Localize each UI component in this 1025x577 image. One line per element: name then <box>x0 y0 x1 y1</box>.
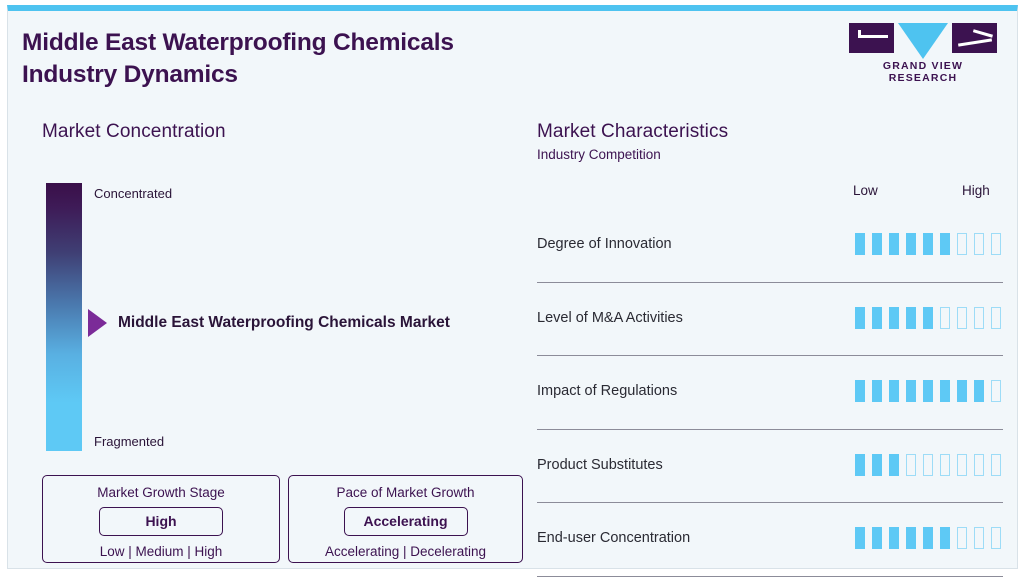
rating-segment-filled <box>889 233 899 255</box>
axis-label-high: High <box>962 183 990 198</box>
rating-segment-filled <box>872 307 882 329</box>
rating-segment-filled <box>957 380 967 402</box>
rating-segment-empty <box>974 307 984 329</box>
pace-of-market-growth-scale: Accelerating | Decelerating <box>301 544 510 559</box>
rating-segment-filled <box>889 380 899 402</box>
rating-segment-filled <box>889 454 899 476</box>
rating-segment-filled <box>855 307 865 329</box>
rating-segment-filled <box>855 454 865 476</box>
infographic-page: Middle East Waterproofing Chemicals Indu… <box>0 0 1025 576</box>
market-characteristics-heading: Market Characteristics <box>537 121 1003 143</box>
rating-segment-filled <box>940 527 950 549</box>
logo-triangle-icon <box>898 23 948 59</box>
rating-segment-filled <box>872 233 882 255</box>
characteristic-label: End-user Concentration <box>537 530 855 548</box>
characteristic-row: Degree of Innovation <box>537 209 1003 283</box>
market-growth-stage-scale: Low | Medium | High <box>55 544 267 559</box>
rating-segment-empty <box>923 454 933 476</box>
rating-segment-empty <box>906 454 916 476</box>
rating-segment-filled <box>855 527 865 549</box>
rating-segment-filled <box>855 233 865 255</box>
rating-segment-empty <box>974 233 984 255</box>
pace-of-market-growth-title: Pace of Market Growth <box>301 485 510 500</box>
characteristic-label: Level of M&A Activities <box>537 310 855 328</box>
rating-segment-empty <box>957 233 967 255</box>
characteristic-rating-bars <box>855 527 1003 551</box>
characteristic-rating-bars <box>855 380 1003 404</box>
market-position-label: Middle East Waterproofing Chemicals Mark… <box>118 314 450 332</box>
rating-segment-empty <box>974 454 984 476</box>
pace-of-market-growth-value: Accelerating <box>344 507 468 536</box>
market-growth-stage-title: Market Growth Stage <box>55 485 267 500</box>
rating-segment-empty <box>940 454 950 476</box>
rating-segment-filled <box>906 380 916 402</box>
rating-segment-empty <box>991 233 1001 255</box>
rating-segment-filled <box>906 233 916 255</box>
scale-bottom-label: Fragmented <box>94 434 164 449</box>
rating-segment-empty <box>940 307 950 329</box>
rating-segment-empty <box>991 380 1001 402</box>
characteristic-row: Impact of Regulations <box>537 356 1003 430</box>
rating-segment-filled <box>855 380 865 402</box>
logo-left-block-icon <box>849 23 894 53</box>
rating-segment-filled <box>923 233 933 255</box>
rating-segment-filled <box>889 307 899 329</box>
characteristic-rating-bars <box>855 233 1003 257</box>
characteristic-rating-bars <box>855 454 1003 478</box>
logo-marks <box>849 23 997 55</box>
rating-segment-filled <box>889 527 899 549</box>
rating-segment-filled <box>906 307 916 329</box>
rating-segment-filled <box>974 380 984 402</box>
rating-segment-empty <box>957 307 967 329</box>
grand-view-research-logo: GRAND VIEW RESEARCH <box>849 23 999 84</box>
rating-segment-empty <box>957 454 967 476</box>
infographic-card: Middle East Waterproofing Chemicals Indu… <box>7 5 1018 569</box>
market-growth-stage-box: Market Growth Stage High Low | Medium | … <box>42 475 280 563</box>
market-position-marker: Middle East Waterproofing Chemicals Mark… <box>88 309 450 337</box>
characteristic-row: Product Substitutes <box>537 430 1003 504</box>
rating-segment-filled <box>872 380 882 402</box>
market-concentration-section: Market Concentration <box>42 121 522 143</box>
market-growth-stage-value: High <box>99 507 223 536</box>
characteristic-label: Product Substitutes <box>537 457 855 475</box>
market-concentration-heading: Market Concentration <box>42 121 522 143</box>
rating-segment-filled <box>906 527 916 549</box>
axis-label-low: Low <box>853 183 878 198</box>
market-characteristics-section: Market Characteristics Industry Competit… <box>537 121 1003 162</box>
rating-segment-filled <box>923 380 933 402</box>
concentration-gradient-bar <box>46 183 82 451</box>
rating-segment-empty <box>991 307 1001 329</box>
rating-segment-filled <box>872 527 882 549</box>
pace-of-market-growth-box: Pace of Market Growth Accelerating Accel… <box>288 475 523 563</box>
rating-segment-filled <box>872 454 882 476</box>
competition-axis-labels: Low High <box>537 183 1003 203</box>
concentration-scale: Concentrated Fragmented <box>46 183 82 451</box>
logo-right-block-icon <box>952 23 997 53</box>
page-title: Middle East Waterproofing Chemicals Indu… <box>22 27 662 90</box>
characteristic-rating-bars <box>855 307 1003 331</box>
characteristic-label: Degree of Innovation <box>537 236 855 254</box>
characteristic-label: Impact of Regulations <box>537 383 855 401</box>
logo-wordmark: GRAND VIEW RESEARCH <box>849 60 997 84</box>
rating-segment-empty <box>991 527 1001 549</box>
rating-segment-empty <box>991 454 1001 476</box>
rating-segment-filled <box>923 307 933 329</box>
characteristic-row: End-user Concentration <box>537 503 1003 577</box>
rating-segment-empty <box>957 527 967 549</box>
rating-segment-filled <box>940 233 950 255</box>
rating-segment-filled <box>940 380 950 402</box>
market-characteristics-subheading: Industry Competition <box>537 147 1003 162</box>
characteristics-rows: Degree of InnovationLevel of M&A Activit… <box>537 209 1003 577</box>
rating-segment-empty <box>974 527 984 549</box>
triangle-right-icon <box>88 309 107 337</box>
growth-info-boxes: Market Growth Stage High Low | Medium | … <box>42 475 523 563</box>
characteristic-row: Level of M&A Activities <box>537 283 1003 357</box>
scale-top-label: Concentrated <box>94 186 172 201</box>
rating-segment-filled <box>923 527 933 549</box>
